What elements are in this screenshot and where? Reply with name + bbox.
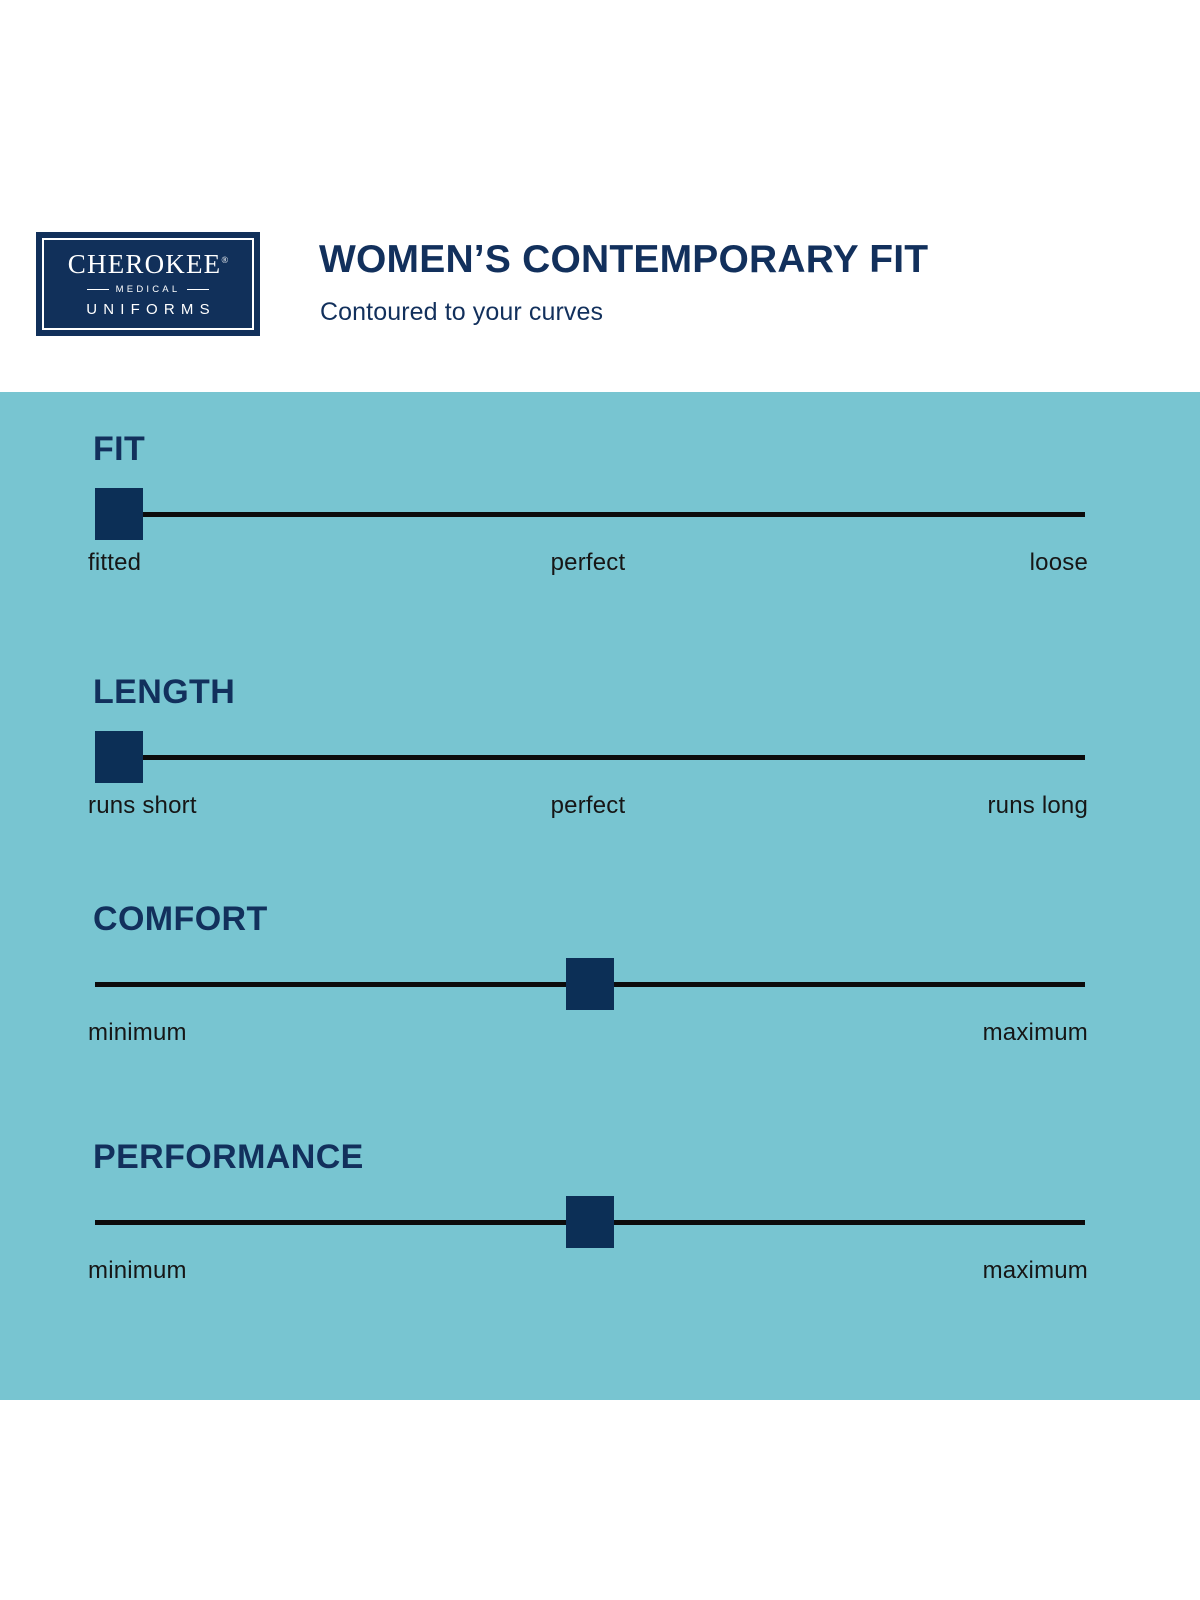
meter-fit-scale: fitted perfect loose (88, 549, 1088, 579)
meter-length-label-right: runs long (987, 792, 1088, 820)
brand-product: UNIFORMS (80, 302, 216, 317)
meter-comfort-label-left: minimum (88, 1019, 187, 1047)
meter-fit-label-middle: perfect (88, 549, 1088, 577)
brand-name: CHEROKEE® (68, 251, 228, 278)
meter-length-title: LENGTH (93, 675, 235, 709)
meter-performance-slider[interactable] (95, 1196, 1085, 1248)
meter-performance-scale: minimum maximum (88, 1257, 1088, 1287)
meter-fit-knob[interactable] (95, 488, 143, 540)
meter-comfort-label-right: maximum (983, 1019, 1088, 1047)
meter-fit-label-right: loose (1030, 549, 1088, 577)
meter-length-knob[interactable] (95, 731, 143, 783)
meter-length-slider[interactable] (95, 731, 1085, 783)
meter-performance-title: PERFORMANCE (93, 1140, 364, 1174)
meter-comfort-knob[interactable] (566, 958, 614, 1010)
header: CHEROKEE® MEDICAL UNIFORMS WOMEN’S CONTE… (0, 0, 1200, 392)
meter-comfort-slider[interactable] (95, 958, 1085, 1010)
brand-category: MEDICAL (116, 285, 181, 295)
registered-trademark-icon: ® (221, 255, 228, 265)
brand-name-text: CHEROKEE (68, 249, 222, 279)
meter-performance-knob[interactable] (566, 1196, 614, 1248)
meter-fit-slider[interactable] (95, 488, 1085, 540)
fit-guide-panel (0, 392, 1200, 1400)
meter-fit-title: FIT (93, 432, 145, 466)
brand-logo-frame: CHEROKEE® MEDICAL UNIFORMS (42, 238, 254, 330)
page-title: WOMEN’S CONTEMPORARY FIT (319, 240, 928, 281)
meter-fit-track[interactable] (95, 512, 1085, 517)
meter-performance-label-right: maximum (983, 1257, 1088, 1285)
meter-length-track[interactable] (95, 755, 1085, 760)
brand-category-row: MEDICAL (87, 285, 210, 295)
page-subtitle: Contoured to your curves (320, 297, 603, 327)
meter-comfort-scale: minimum maximum (88, 1019, 1088, 1049)
meter-length-scale: runs short perfect runs long (88, 792, 1088, 822)
brand-logo: CHEROKEE® MEDICAL UNIFORMS (36, 232, 260, 336)
meter-comfort-title: COMFORT (93, 902, 268, 936)
rule-right-icon (187, 289, 209, 291)
rule-left-icon (87, 289, 109, 291)
meter-length-label-middle: perfect (88, 792, 1088, 820)
meter-performance-label-left: minimum (88, 1257, 187, 1285)
